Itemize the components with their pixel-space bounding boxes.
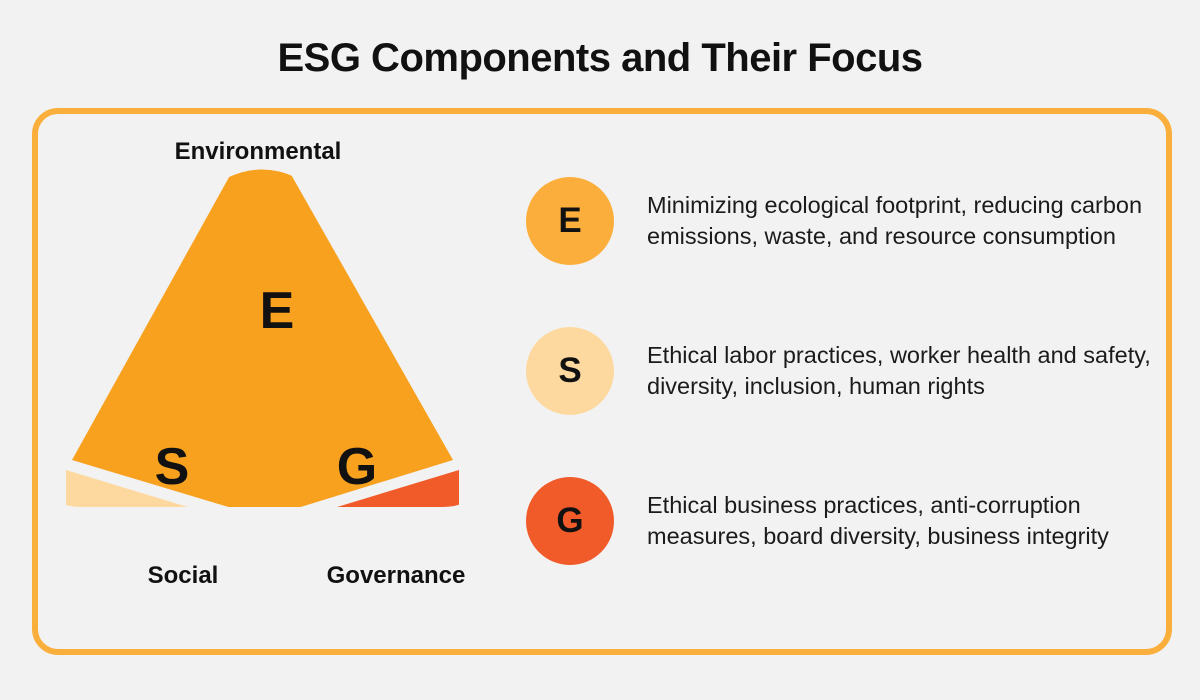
legend-description-g: Ethical business practices, anti-corrupt… <box>647 490 1156 552</box>
legend-badge-e: E <box>526 177 614 265</box>
diagram-label-governance: Governance <box>266 562 526 590</box>
triangle-letter-e: E <box>260 282 295 340</box>
esg-triangle-diagram: Environmental E S G <box>38 114 558 649</box>
legend-item-social[interactable]: S Ethical labor practices, worker health… <box>526 296 1156 446</box>
triangle-graphic: E S G <box>52 166 472 536</box>
content-frame: Environmental E S G <box>32 108 1172 655</box>
triangle-letter-g: G <box>337 438 377 496</box>
triangle-letter-s: S <box>155 438 190 496</box>
legend-item-governance[interactable]: G Ethical business practices, anti-corru… <box>526 446 1156 596</box>
legend-item-environmental[interactable]: E Minimizing ecological footprint, reduc… <box>526 146 1156 296</box>
triangle-segment-environmental[interactable] <box>72 168 453 518</box>
legend-description-e: Minimizing ecological footprint, reducin… <box>647 190 1156 252</box>
legend-list: E Minimizing ecological footprint, reduc… <box>526 146 1156 596</box>
diagram-label-social: Social <box>73 562 293 590</box>
legend-description-s: Ethical labor practices, worker health a… <box>647 340 1156 402</box>
legend-badge-g: G <box>526 477 614 565</box>
page-title: ESG Components and Their Focus <box>0 36 1200 81</box>
diagram-label-environmental: Environmental <box>38 138 478 166</box>
legend-badge-s: S <box>526 327 614 415</box>
